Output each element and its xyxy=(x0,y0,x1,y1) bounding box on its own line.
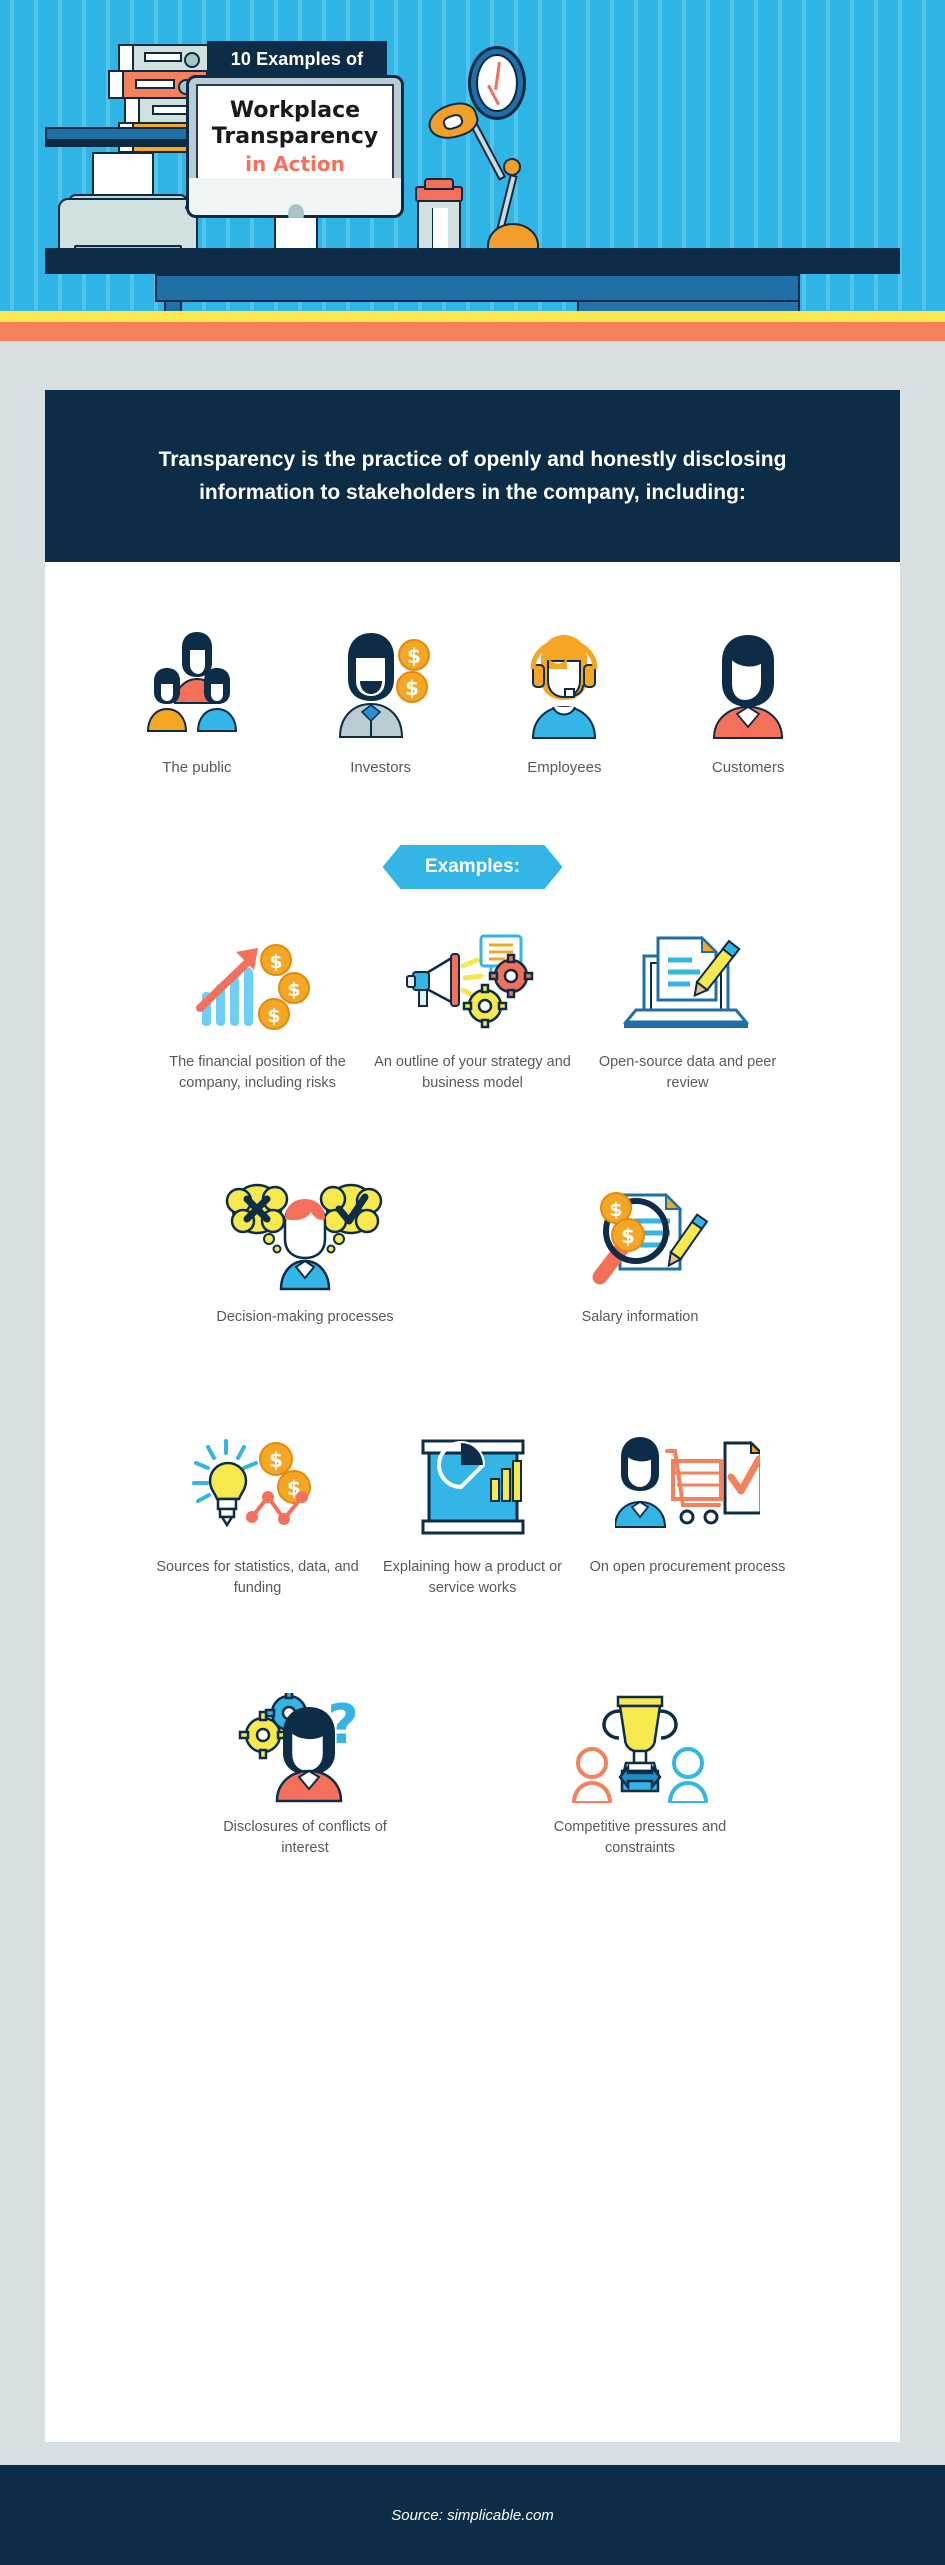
desk-drawer xyxy=(577,300,800,311)
screen-title-line1: Workplace xyxy=(200,98,390,124)
content-card: Transparency is the practice of openly a… xyxy=(45,390,900,2442)
stakeholder-item: Customers xyxy=(668,595,828,776)
divider-band-yellow xyxy=(0,311,945,322)
binder-spine xyxy=(110,72,124,97)
intro-box: Transparency is the practice of openly a… xyxy=(45,390,900,562)
example-item: Open-source data and peer review xyxy=(580,925,795,1094)
example-item: An outline of your strategy and business… xyxy=(365,925,580,1094)
divider-band-orange xyxy=(0,322,945,341)
example-item: On open procurement process xyxy=(580,1430,795,1599)
example-label: On open procurement process xyxy=(580,1557,795,1578)
example-label: Decision-making processes xyxy=(198,1307,413,1328)
presentation-charts-icon xyxy=(365,1430,580,1545)
trophy-two-people-arrow-icon xyxy=(533,1690,748,1805)
example-item: $ $ $ The financial position of the comp… xyxy=(150,925,365,1094)
stakeholder-item: Employees xyxy=(484,595,644,776)
example-label: Disclosures of conflicts of interest xyxy=(198,1817,413,1859)
footer: Source: simplicable.com xyxy=(0,2465,945,2565)
stakeholder-label: Investors xyxy=(301,759,461,776)
stakeholder-label: Customers xyxy=(668,759,828,776)
svg-text:$: $ xyxy=(609,1199,622,1221)
examples-banner: Examples: xyxy=(383,845,563,889)
screen-title-line3: in Action xyxy=(200,150,390,178)
examples-row-4: ? Disclosures of conflicts of interest xyxy=(45,1690,900,1859)
example-item: Competitive pressures and constraints xyxy=(533,1690,748,1859)
screen-title-group: Workplace Transparency in Action xyxy=(200,98,390,178)
binder-teal-top xyxy=(118,44,213,72)
desk-top xyxy=(45,248,900,274)
shopping-cart-checklist-icon xyxy=(580,1430,795,1545)
stakeholder-label: The public xyxy=(117,759,277,776)
examples-banner-label: Examples: xyxy=(425,856,520,878)
stakeholder-item: $ $ Investors xyxy=(301,595,461,776)
stakeholder-label: Employees xyxy=(484,759,644,776)
headset-support-agent-icon xyxy=(484,595,644,745)
example-item: ? Disclosures of conflicts of interest xyxy=(198,1690,413,1859)
example-label: Competitive pressures and constraints xyxy=(533,1817,748,1859)
example-item: Decision-making processes xyxy=(198,1180,413,1328)
example-label: Salary information xyxy=(533,1307,748,1328)
bearded-man-with-coins-icon: $ $ xyxy=(301,595,461,745)
lightbulb-coins-graph-icon: $ $ xyxy=(150,1430,365,1545)
svg-text:$: $ xyxy=(269,951,282,973)
stakeholder-item: The public xyxy=(117,595,277,776)
svg-text:$: $ xyxy=(267,1005,280,1027)
example-item: Explaining how a product or service work… xyxy=(365,1430,580,1599)
example-label: Explaining how a product or service work… xyxy=(365,1557,580,1599)
example-label: The financial position of the company, i… xyxy=(150,1052,365,1094)
svg-text:$: $ xyxy=(269,1448,283,1472)
example-label: An outline of your strategy and business… xyxy=(365,1052,580,1094)
desk-leg xyxy=(164,300,182,311)
lamp-joint xyxy=(503,158,521,176)
header-banner: 10 Examples of xyxy=(207,41,387,78)
stakeholders-row: The public $ $ Investors xyxy=(45,595,900,776)
binder-label xyxy=(135,79,175,90)
svg-text:$: $ xyxy=(405,676,419,700)
examples-row-1: $ $ $ The financial position of the comp… xyxy=(45,925,900,1094)
woman-customer-icon xyxy=(668,595,828,745)
svg-text:$: $ xyxy=(287,979,300,1001)
megaphone-with-gears-icon xyxy=(365,925,580,1040)
example-label: Open-source data and peer review xyxy=(580,1052,795,1094)
group-of-people-icon xyxy=(117,595,277,745)
binder-label xyxy=(144,52,182,62)
header-banner-title: 10 Examples of xyxy=(231,49,363,70)
svg-text:$: $ xyxy=(621,1224,635,1248)
laptop-document-pencil-icon xyxy=(580,925,795,1040)
magnifier-document-coin-icon: $ $ xyxy=(533,1180,748,1295)
examples-row-2: Decision-making processes $ $ xyxy=(45,1180,900,1328)
woman-gears-question-icon: ? xyxy=(198,1690,413,1805)
binder-spine xyxy=(120,46,134,70)
man-thinking-pros-cons-icon xyxy=(198,1180,413,1295)
screen-title-line2: Transparency xyxy=(200,124,390,150)
examples-banner-row: Examples: xyxy=(45,845,900,889)
binder-ring xyxy=(184,52,200,68)
growth-chart-with-coins-icon: $ $ $ xyxy=(150,925,365,1040)
svg-text:$: $ xyxy=(407,644,421,668)
example-item: $ $ Salary information xyxy=(533,1180,748,1328)
binder-spine xyxy=(126,99,140,123)
desk-apron xyxy=(155,274,800,302)
footer-source: Source: simplicable.com xyxy=(391,2507,554,2524)
example-item: $ $ Sources for statistics, data, and fu… xyxy=(150,1430,365,1599)
examples-row-3: $ $ Sources for statistics, data, and fu… xyxy=(45,1430,900,1599)
example-label: Sources for statistics, data, and fundin… xyxy=(150,1557,365,1599)
header-illustration: Workplace Transparency in Action 10 Exam… xyxy=(0,0,945,311)
intro-text: Transparency is the practice of openly a… xyxy=(143,443,803,509)
bottle-cap-top xyxy=(424,178,454,190)
